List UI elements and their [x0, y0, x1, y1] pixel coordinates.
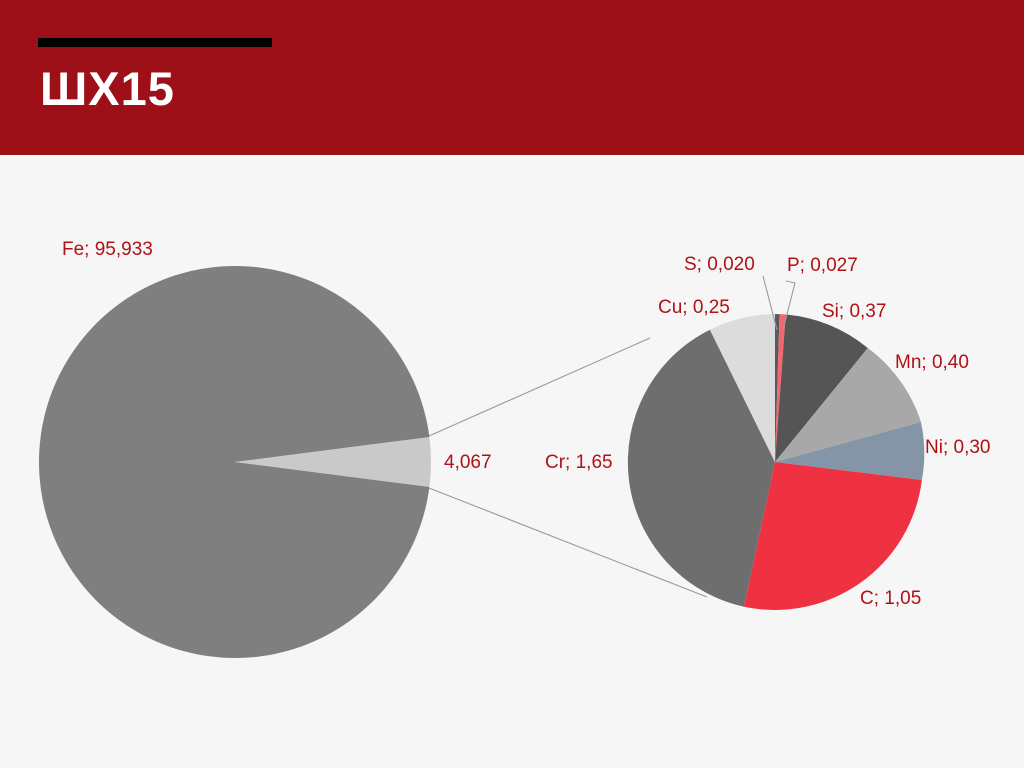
main-pie [39, 266, 431, 658]
data-label-cu: Cu; 0,25 [658, 298, 730, 317]
data-label-other: 4,067 [444, 453, 492, 472]
chart-canvas [0, 0, 1024, 768]
data-label-mn: Mn; 0,40 [895, 353, 969, 372]
slide: ШХ15 [0, 0, 1024, 768]
data-label-p: P; 0,027 [787, 256, 858, 275]
data-label-cr: Cr; 1,65 [545, 453, 613, 472]
data-label-c: C; 1,05 [860, 589, 921, 608]
data-label-ni: Ni; 0,30 [925, 438, 990, 457]
data-label-s: S; 0,020 [684, 255, 755, 274]
data-label-fe: Fe; 95,933 [62, 240, 153, 259]
exploded-pie [628, 314, 924, 610]
data-label-si: Si; 0,37 [822, 302, 886, 321]
